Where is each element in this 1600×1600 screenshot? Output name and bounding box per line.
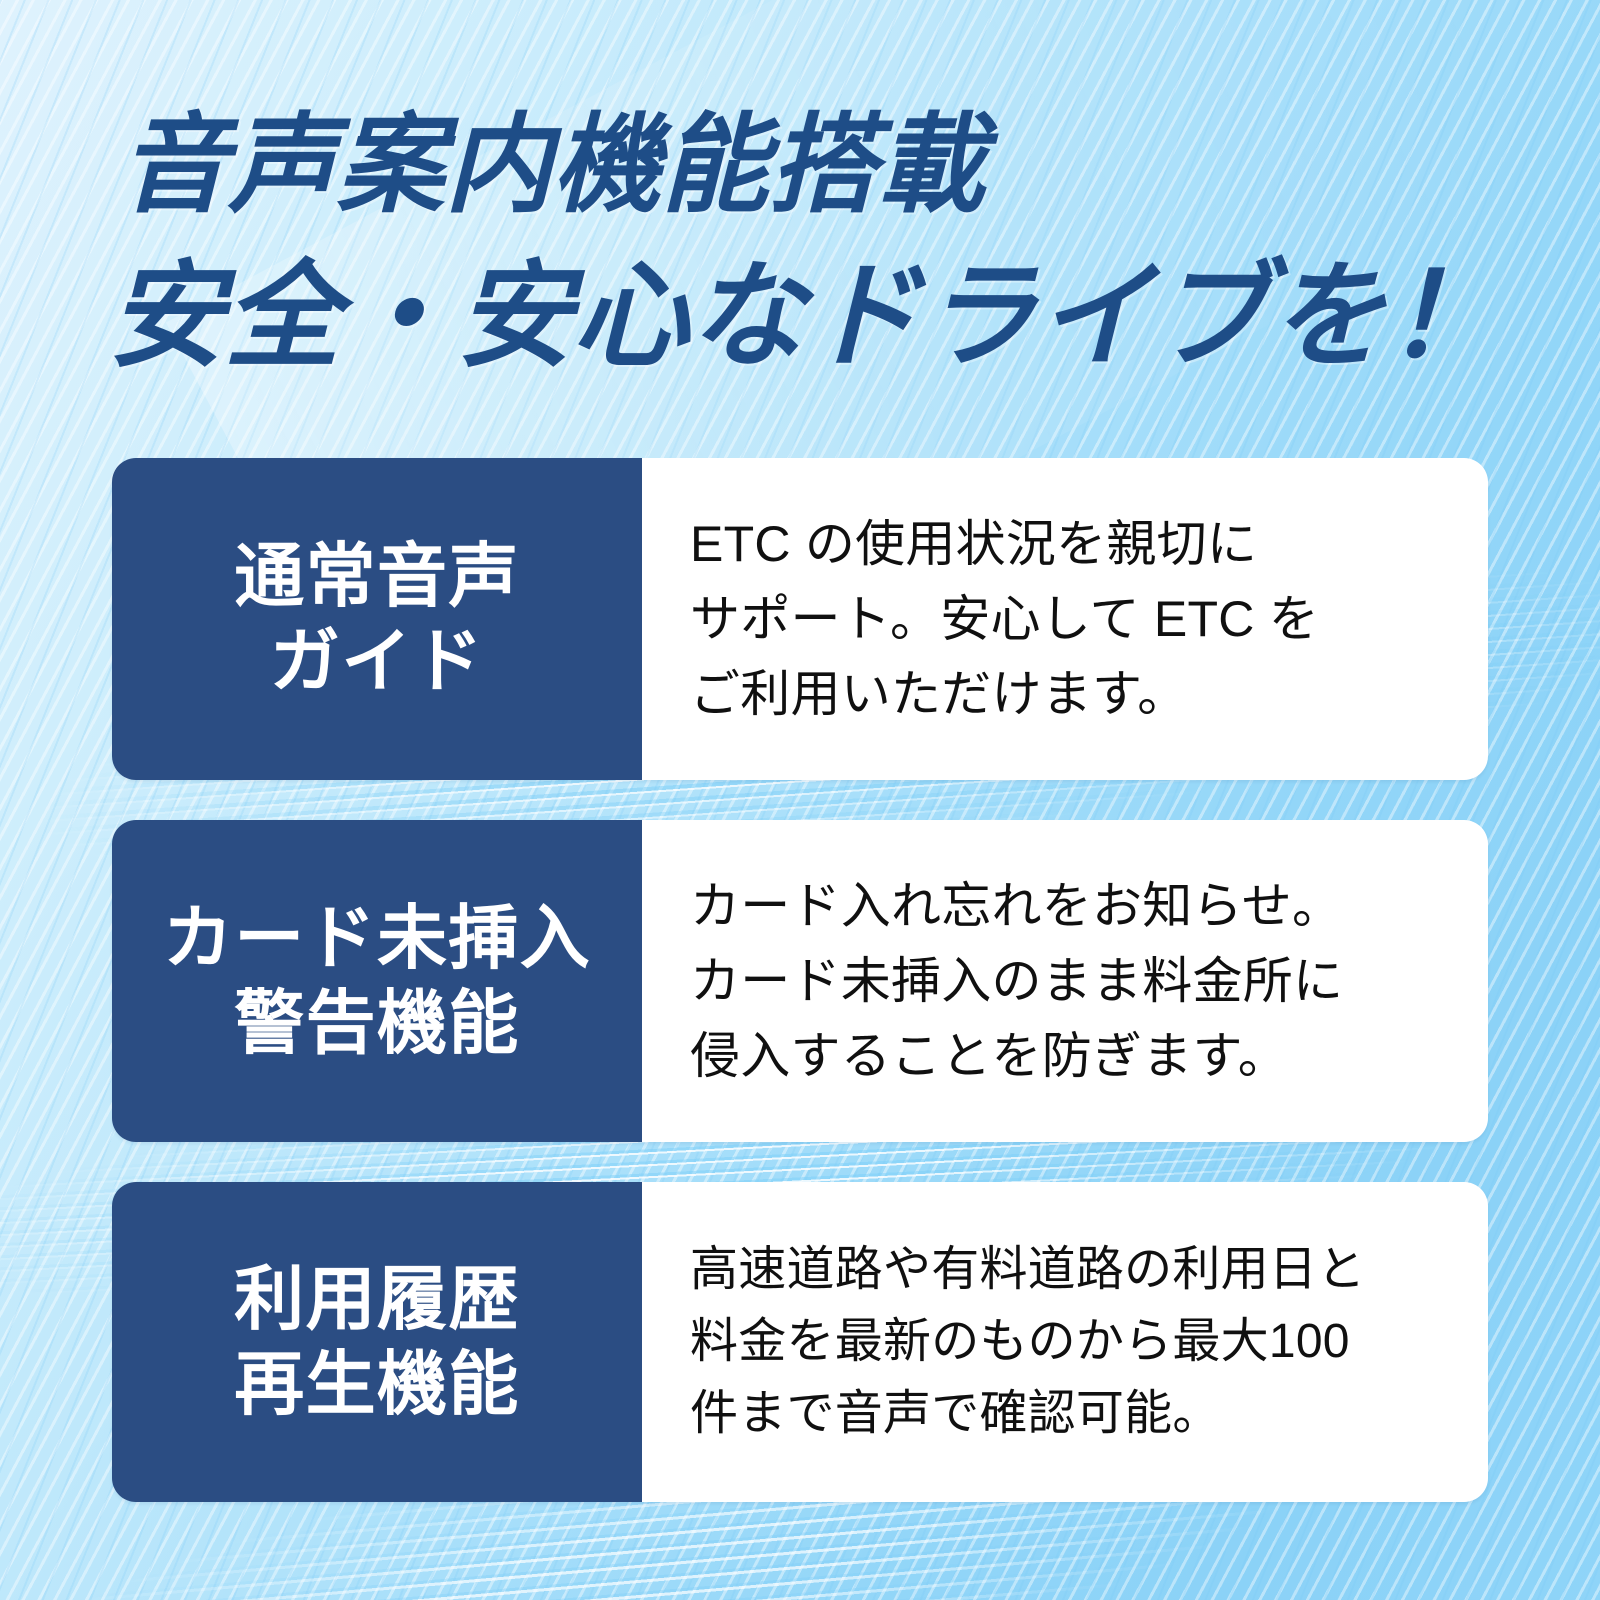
feature-card-usage-history-playback: 利用履歴 再生機能 高速道路や有料道路の利用日と 料金を最新のものから最大100… bbox=[112, 1182, 1488, 1502]
feature-description: カード入れ忘れをお知らせ。 カード未挿入のまま料金所に 侵入することを防ぎます。 bbox=[642, 820, 1488, 1142]
page-title: 音声案内機能搭載 安全・安心なドライブを！ bbox=[108, 96, 1528, 391]
feature-label-line-2: 警告機能 bbox=[234, 981, 520, 1066]
feature-description: 高速道路や有料道路の利用日と 料金を最新のものから最大100 件まで音声で確認可… bbox=[642, 1182, 1488, 1502]
headline-line-2: 安全・安心なドライブを！ bbox=[108, 242, 1528, 390]
feature-label-line-1: 利用履歴 bbox=[234, 1257, 520, 1342]
feature-label-line-1: カード未挿入 bbox=[163, 896, 591, 981]
feature-description-line: 件まで音声で確認可能。 bbox=[690, 1378, 1454, 1450]
feature-description-line: 侵入することを防ぎます。 bbox=[690, 1019, 1454, 1094]
promo-banner: 音声案内機能搭載 安全・安心なドライブを！ 通常音声 ガイド ETC の使用状況… bbox=[0, 0, 1600, 1600]
feature-label: 利用履歴 再生機能 bbox=[112, 1182, 642, 1502]
feature-description-line: 料金を最新のものから最大100 bbox=[690, 1306, 1454, 1378]
headline-line-1: 音声案内機能搭載 bbox=[120, 96, 1528, 234]
feature-description-line: ETC の使用状況を親切に bbox=[690, 507, 1454, 582]
feature-description-line: 高速道路や有料道路の利用日と bbox=[690, 1234, 1454, 1306]
feature-description: ETC の使用状況を親切に サポート。安心して ETC を ご利用いただけます。 bbox=[642, 458, 1488, 780]
feature-card-card-missing-warning: カード未挿入 警告機能 カード入れ忘れをお知らせ。 カード未挿入のまま料金所に … bbox=[112, 820, 1488, 1142]
feature-description-line: カード未挿入のまま料金所に bbox=[690, 944, 1454, 1019]
feature-label-line-2: ガイド bbox=[270, 619, 484, 704]
feature-label-line-1: 通常音声 bbox=[234, 534, 520, 619]
feature-label: カード未挿入 警告機能 bbox=[112, 820, 642, 1142]
feature-description-line: サポート。安心して ETC を bbox=[690, 582, 1454, 657]
feature-list: 通常音声 ガイド ETC の使用状況を親切に サポート。安心して ETC を ご… bbox=[112, 458, 1488, 1502]
feature-description-line: カード入れ忘れをお知らせ。 bbox=[690, 869, 1454, 944]
feature-description-line: ご利用いただけます。 bbox=[690, 657, 1454, 732]
feature-card-voice-guide: 通常音声 ガイド ETC の使用状況を親切に サポート。安心して ETC を ご… bbox=[112, 458, 1488, 780]
feature-label: 通常音声 ガイド bbox=[112, 458, 642, 780]
feature-label-line-2: 再生機能 bbox=[234, 1342, 520, 1427]
